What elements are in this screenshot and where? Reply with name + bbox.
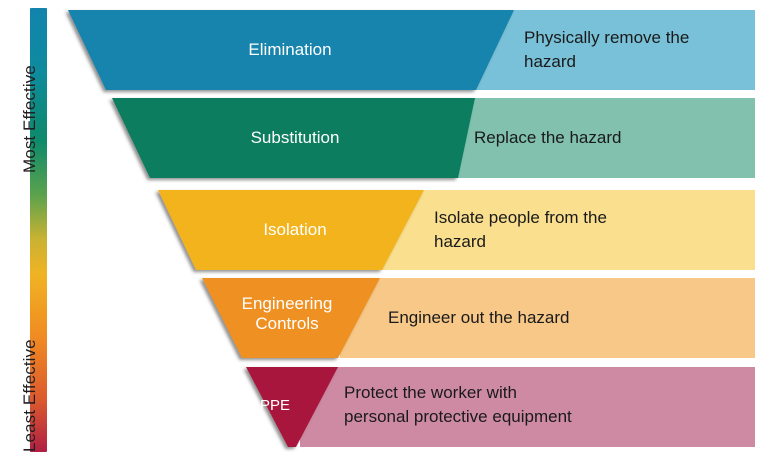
level-description-ppe: Protect the worker with personal protect… <box>344 381 744 429</box>
level-title-elimination: Elimination <box>200 40 380 60</box>
level-title-isolation: Isolation <box>215 220 375 240</box>
level-description-engineering-controls: Engineer out the hazard <box>388 306 688 330</box>
level-description-substitution: Replace the hazard <box>474 126 734 150</box>
level-description-isolation: Isolate people from the hazard <box>434 206 714 254</box>
hierarchy-of-controls-diagram: Most Effective Least Effective Eliminati… <box>0 0 768 460</box>
level-title-substitution: Substitution <box>205 128 385 148</box>
axis-label-most-effective: Most Effective <box>20 65 40 173</box>
level-description-elimination: Physically remove the hazard <box>524 26 754 74</box>
axis-label-least-effective: Least Effective <box>20 339 40 452</box>
level-title-engineering-controls: Engineering Controls <box>222 294 352 334</box>
level-title-ppe: PPE <box>245 396 305 416</box>
